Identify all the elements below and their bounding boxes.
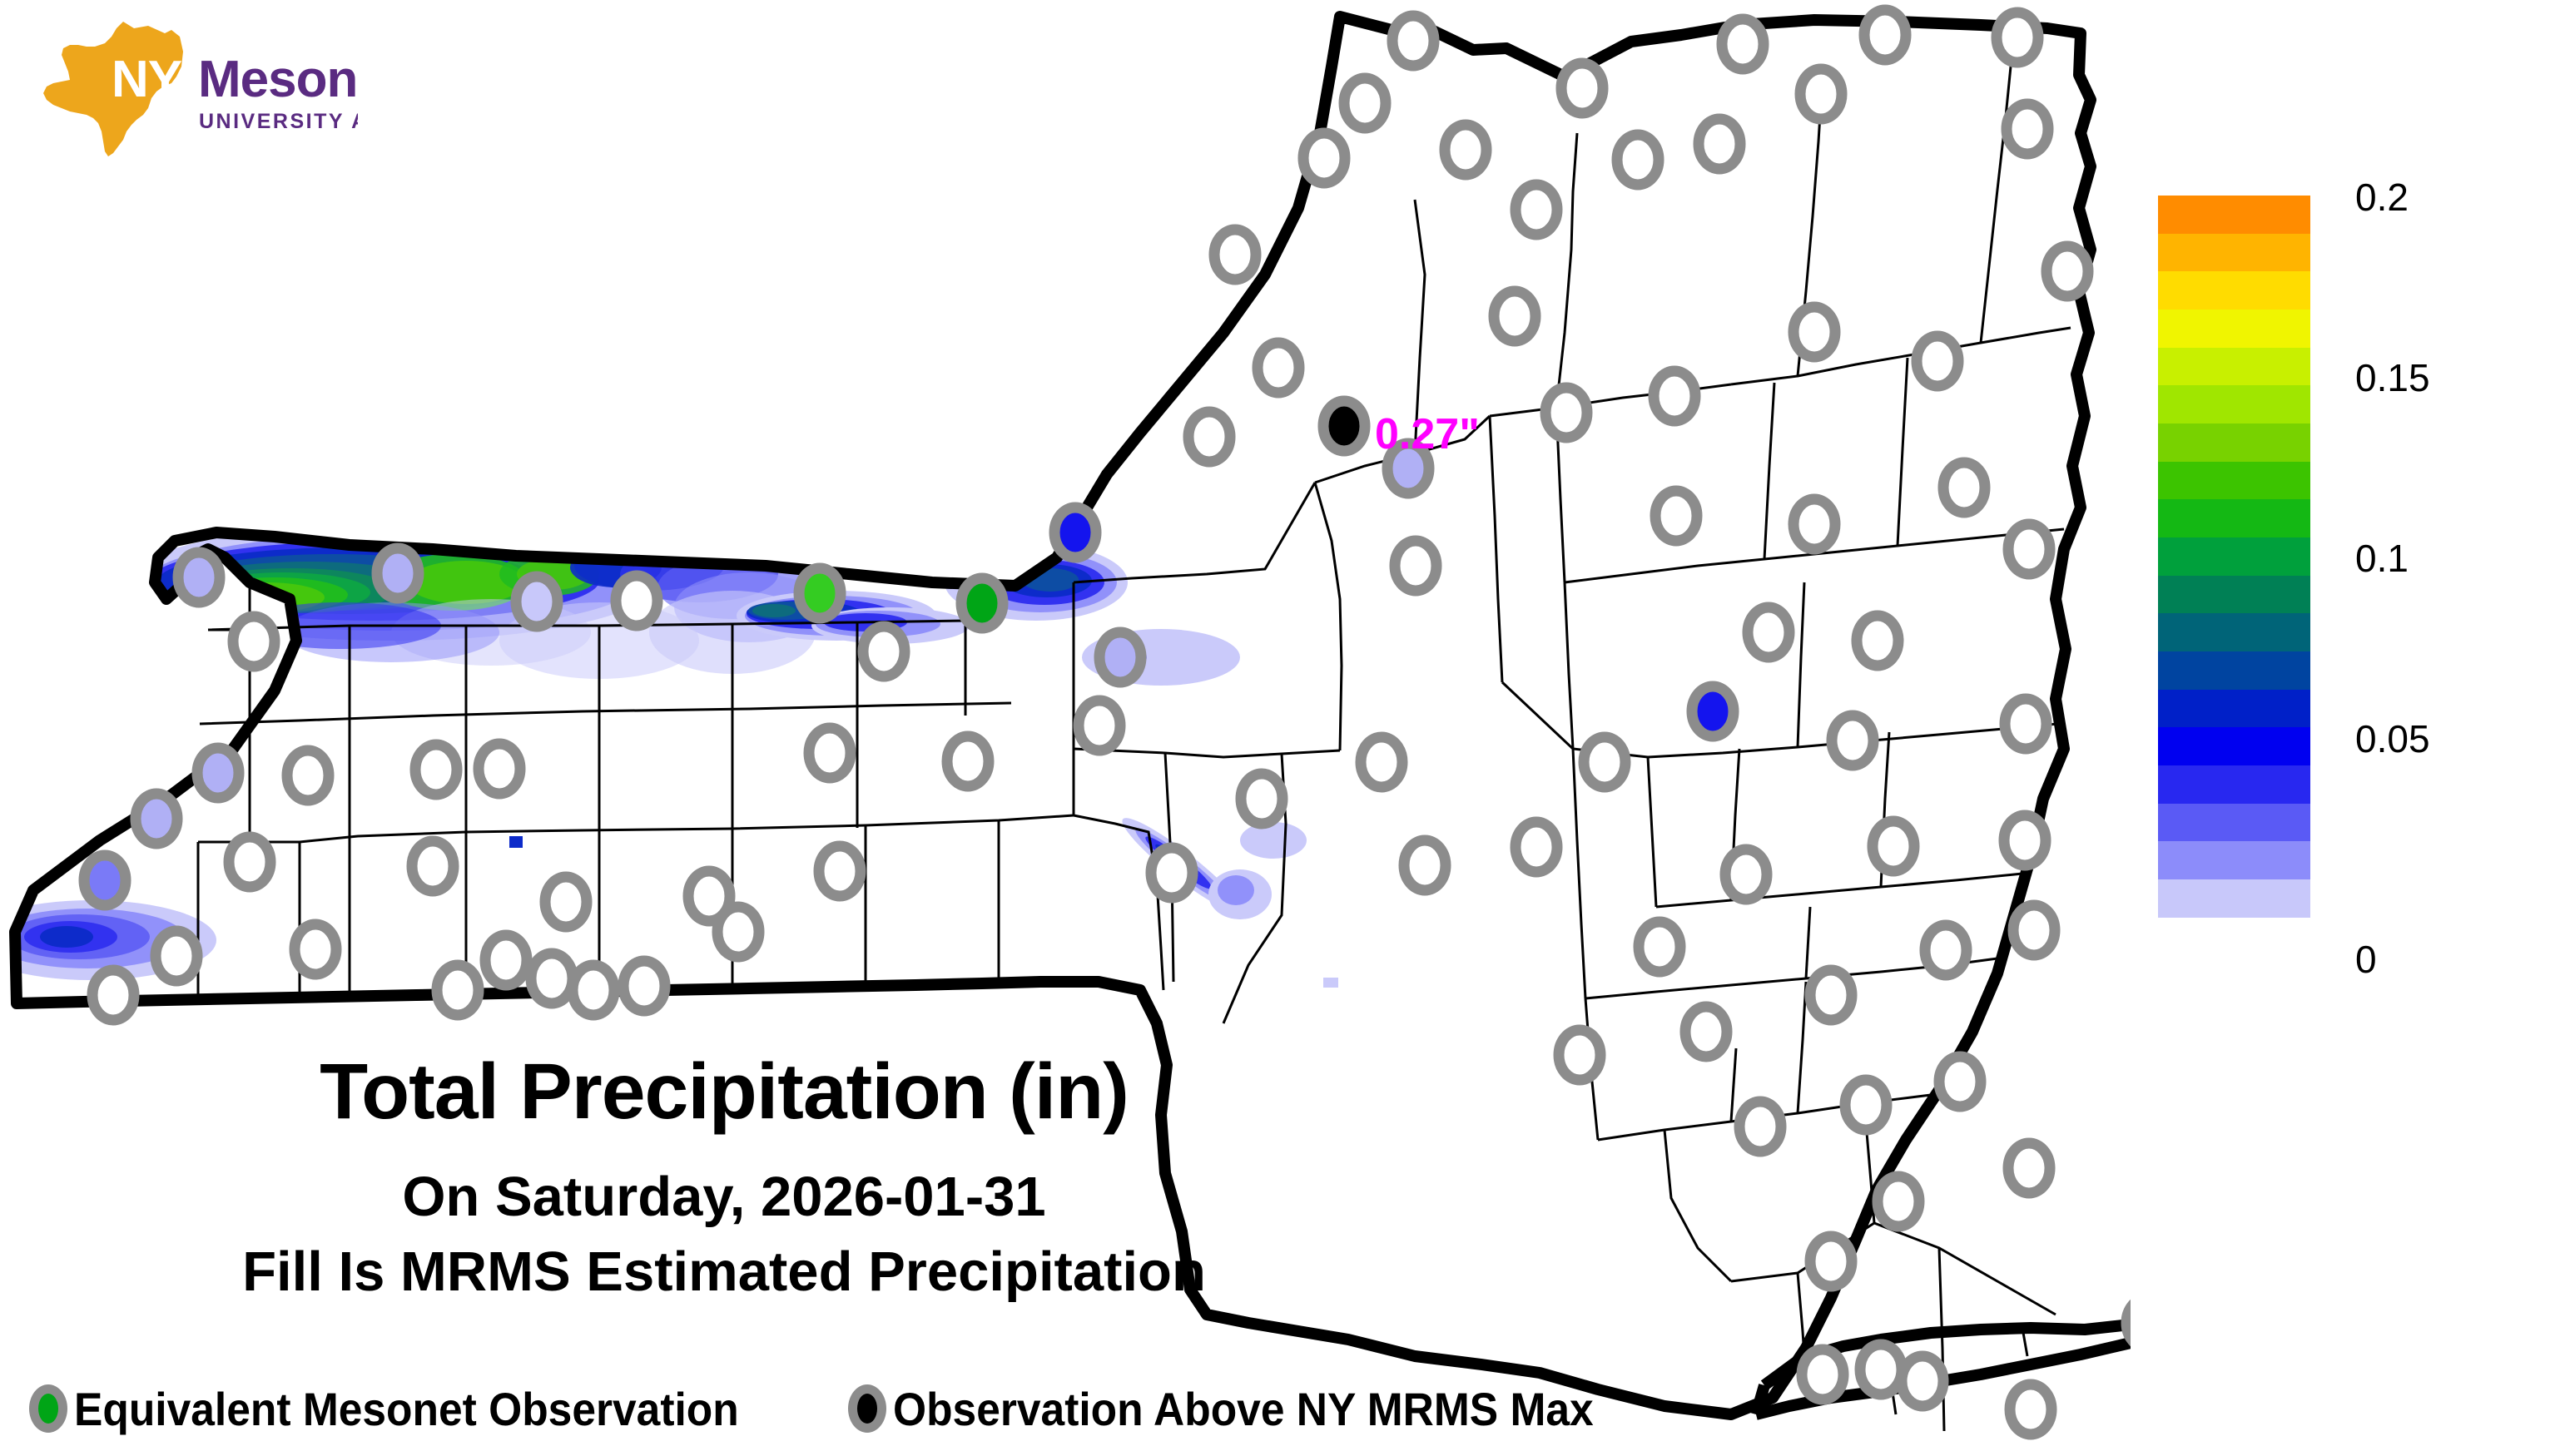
station-marker[interactable]	[1654, 371, 1695, 421]
station-marker[interactable]	[1739, 1102, 1781, 1151]
station-marker[interactable]	[1832, 716, 1873, 765]
station-marker[interactable]	[412, 841, 454, 891]
station-marker[interactable]	[1079, 701, 1120, 750]
station-marker[interactable]	[1584, 737, 1625, 787]
station-marker[interactable]	[136, 794, 177, 844]
logo-mesonet-text: Mesonet	[198, 51, 358, 108]
station-marker[interactable]	[1793, 499, 1835, 549]
station-marker[interactable]	[516, 577, 558, 626]
station-marker[interactable]	[1545, 388, 1587, 438]
station-marker[interactable]	[1404, 840, 1446, 890]
station-marker[interactable]	[1323, 401, 1365, 451]
station-marker[interactable]	[623, 961, 665, 1011]
colorbar-band-10	[2158, 576, 2310, 614]
station-marker[interactable]	[1258, 343, 1299, 393]
station-marker[interactable]	[1099, 632, 1141, 682]
station-marker[interactable]	[1395, 541, 1436, 591]
station-marker[interactable]	[2005, 699, 2046, 749]
colorbar-tick-1: 0.15	[2355, 355, 2430, 400]
station-marker[interactable]	[947, 736, 989, 786]
colorbar-tick-3: 0.05	[2355, 716, 2430, 761]
station-marker[interactable]	[1241, 774, 1282, 824]
colorbar-band-4	[2158, 348, 2310, 386]
station-marker[interactable]	[2046, 246, 2088, 296]
title-source: Fill Is MRMS Estimated Precipitation	[0, 1240, 1448, 1304]
station-marker[interactable]	[1748, 607, 1789, 657]
station-marker[interactable]	[1559, 1030, 1600, 1080]
station-marker[interactable]	[1561, 63, 1603, 113]
colorbar-band-8	[2158, 499, 2310, 537]
station-marker[interactable]	[1864, 10, 1906, 60]
station-marker[interactable]	[1494, 291, 1535, 341]
green-station-icon	[29, 1384, 67, 1433]
station-marker[interactable]	[1685, 1007, 1727, 1057]
station-marker[interactable]	[1655, 491, 1697, 541]
station-marker[interactable]	[1943, 463, 1985, 513]
station-marker[interactable]	[2126, 1298, 2131, 1348]
station-marker[interactable]	[1917, 336, 1958, 386]
colorbar-tick-4: 0	[2355, 937, 2377, 982]
station-marker[interactable]	[197, 748, 239, 798]
station-marker[interactable]	[1793, 307, 1835, 357]
station-marker[interactable]	[2010, 1384, 2051, 1434]
station-marker[interactable]	[531, 953, 573, 1003]
logo-university-text: UNIVERSITY AT ALBANY	[199, 110, 358, 133]
station-marker[interactable]	[616, 576, 657, 626]
station-marker[interactable]	[415, 745, 457, 795]
station-marker[interactable]	[1878, 1176, 1919, 1226]
colorbar-band-14	[2158, 727, 2310, 765]
colorbar-band-6	[2158, 423, 2310, 462]
station-marker[interactable]	[84, 855, 126, 905]
station-marker[interactable]	[2007, 104, 2048, 154]
station-marker[interactable]	[377, 548, 419, 598]
station-marker[interactable]	[1361, 737, 1402, 787]
title-date: On Saturday, 2026-01-31	[0, 1165, 1448, 1229]
legend-label-above-max: Observation Above NY MRMS Max	[893, 1382, 1594, 1436]
station-marker[interactable]	[295, 924, 336, 974]
station-marker[interactable]	[1392, 16, 1434, 66]
station-marker[interactable]	[2008, 1143, 2050, 1193]
station-marker[interactable]	[1810, 970, 1852, 1020]
station-marker[interactable]	[1802, 1350, 1843, 1399]
station-marker[interactable]	[1344, 78, 1386, 128]
station-marker[interactable]	[229, 837, 270, 887]
station-marker[interactable]	[1939, 1057, 1981, 1107]
colorbar-tick-2: 0.1	[2355, 536, 2409, 581]
station-marker[interactable]	[688, 871, 730, 921]
colorbar-band-9	[2158, 537, 2310, 576]
legend-item-above-max: Observation Above NY MRMS Max	[848, 1382, 1655, 1436]
station-marker[interactable]	[799, 568, 841, 618]
station-marker[interactable]	[809, 728, 851, 778]
page-title: Total Precipitation (in)	[0, 1047, 1448, 1137]
station-marker[interactable]	[1617, 135, 1659, 185]
station-marker[interactable]	[1857, 616, 1898, 666]
colorbar-band-18	[2158, 879, 2310, 918]
station-marker[interactable]	[1303, 133, 1345, 183]
station-marker[interactable]	[156, 931, 197, 981]
colorbar-band-0	[2158, 196, 2310, 234]
station-marker[interactable]	[1516, 822, 1557, 872]
new-york-state-map: 0.27"	[0, 0, 2131, 1456]
legend-item-equivalent: Equivalent Mesonet Observation	[29, 1382, 796, 1436]
colorbar-band-13	[2158, 690, 2310, 728]
station-marker[interactable]	[1873, 821, 1914, 871]
precipitation-colorbar	[2158, 196, 2310, 918]
station-marker[interactable]	[1054, 508, 1096, 557]
colorbar-band-16	[2158, 804, 2310, 842]
map-legend: Equivalent Mesonet Observation Observati…	[29, 1379, 1655, 1438]
black-station-icon	[848, 1384, 886, 1433]
station-marker[interactable]	[479, 744, 520, 794]
station-marker[interactable]	[92, 970, 134, 1020]
station-marker[interactable]	[2004, 815, 2046, 865]
station-marker[interactable]	[2013, 905, 2055, 955]
station-marker[interactable]	[1692, 686, 1734, 736]
station-marker[interactable]	[1902, 1356, 1943, 1406]
station-marker[interactable]	[1810, 1236, 1852, 1286]
station-marker[interactable]	[545, 877, 587, 927]
station-marker[interactable]	[1445, 125, 1486, 175]
station-marker[interactable]	[819, 846, 861, 896]
station-marker[interactable]	[1151, 848, 1193, 898]
legend-label-equivalent: Equivalent Mesonet Observation	[74, 1382, 739, 1436]
colorbar-band-3	[2158, 310, 2310, 348]
colorbar-band-12	[2158, 651, 2310, 690]
station-marker[interactable]	[1860, 1345, 1902, 1394]
station-marker[interactable]	[1725, 849, 1767, 899]
station-marker[interactable]	[1997, 12, 2038, 62]
station-marker[interactable]	[1639, 922, 1680, 972]
colorbar-band-11	[2158, 613, 2310, 651]
colorbar-band-1	[2158, 234, 2310, 272]
station-marker[interactable]	[287, 750, 329, 800]
station-marker[interactable]	[1845, 1080, 1887, 1130]
station-marker[interactable]	[1722, 19, 1764, 69]
station-marker[interactable]	[961, 578, 1003, 628]
colorbar-band-5	[2158, 385, 2310, 423]
colorbar-band-15	[2158, 765, 2310, 804]
station-marker[interactable]	[1699, 119, 1740, 169]
station-marker[interactable]	[437, 965, 479, 1015]
station-marker[interactable]	[2008, 524, 2050, 574]
colorbar-band-2	[2158, 271, 2310, 310]
station-marker[interactable]	[1188, 412, 1230, 462]
station-marker[interactable]	[1800, 69, 1842, 119]
station-marker[interactable]	[863, 626, 905, 676]
station-marker[interactable]	[178, 552, 220, 602]
colorbar-band-7	[2158, 462, 2310, 500]
station-marker[interactable]	[485, 935, 527, 985]
map-figure: 0.27" NYS Mesonet UNIVERSITY AT ALBANY 0…	[0, 0, 2555, 1456]
station-marker[interactable]	[1925, 925, 1967, 975]
station-marker[interactable]	[233, 617, 275, 666]
max-observation-label: 0.27"	[1375, 409, 1480, 459]
station-marker[interactable]	[573, 965, 614, 1015]
station-marker[interactable]	[1214, 230, 1256, 280]
station-marker[interactable]	[1516, 185, 1557, 235]
colorbar-band-17	[2158, 841, 2310, 879]
nys-mesonet-logo: NYS Mesonet UNIVERSITY AT ALBANY	[25, 15, 358, 156]
colorbar-tick-0: 0.2	[2355, 175, 2409, 220]
